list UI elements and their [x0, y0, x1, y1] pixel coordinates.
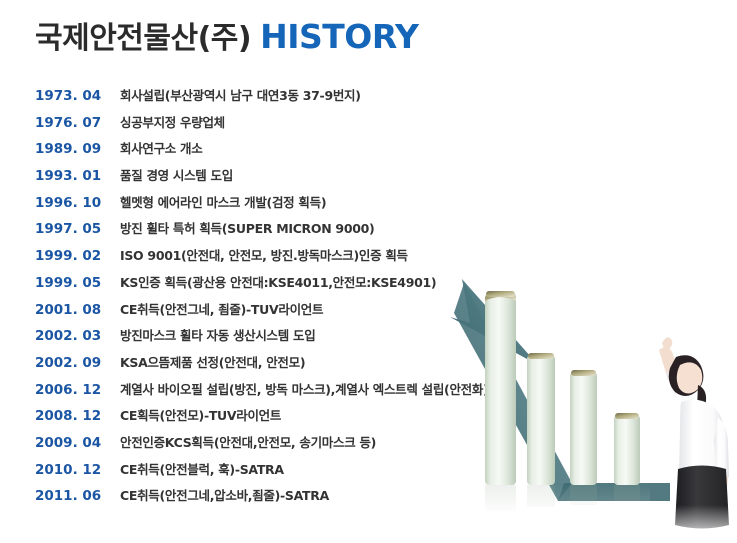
history-date: 2006. 12 — [35, 380, 115, 400]
history-date: 2001. 08 — [35, 300, 115, 320]
history-date: 1999. 05 — [35, 273, 115, 293]
history-text: 헬멧형 에어라인 마스크 개발(검정 획득) — [120, 193, 326, 213]
history-date: 1973. 04 — [35, 86, 115, 106]
history-text: 품질 경영 시스템 도입 — [120, 166, 233, 186]
history-text: CE취득(안전그네, 죔줄)-TUV라이언트 — [120, 300, 323, 320]
history-row: 1999. 02 ISO 9001(안전대, 안전모, 방진.방독마스크)인증 … — [0, 246, 737, 273]
history-row: 1989. 09 회사연구소 개소 — [0, 139, 737, 166]
history-date: 2010. 12 — [35, 460, 115, 480]
history-text: 안전인증KCS획득(안전대,안전모, 송기마스크 등) — [120, 433, 376, 453]
history-date: 2011. 06 — [35, 486, 115, 506]
history-row: 2010. 12 CE취득(안전블럭, 훅)-SATRA — [0, 460, 737, 487]
history-date: 1999. 02 — [35, 246, 115, 266]
history-date: 1996. 10 — [35, 193, 115, 213]
history-row: 2001. 08 CE취득(안전그네, 죔줄)-TUV라이언트 — [0, 300, 737, 327]
history-date: 2009. 04 — [35, 433, 115, 453]
history-row: 2002. 09 KSA으뜸제품 선정(안전대, 안전모) — [0, 353, 737, 380]
history-date: 1976. 07 — [35, 113, 115, 133]
history-row: 2011. 06 CE취득(안전그네,압소바,죔줄)-SATRA — [0, 486, 737, 513]
history-text: CE획득(안전모)-TUV라이언트 — [120, 406, 281, 426]
history-row: 1997. 05 방진 휠타 특허 획득(SUPER MICRON 9000) — [0, 219, 737, 246]
history-row: 1999. 05 KS인증 획득(광산용 안전대:KSE4011,안전모:KSE… — [0, 273, 737, 300]
history-row: 2009. 04 안전인증KCS획득(안전대,안전모, 송기마스크 등) — [0, 433, 737, 460]
history-row: 2002. 03 방진마스크 휠타 자동 생산시스템 도입 — [0, 326, 737, 353]
page-title-korean: 국제안전물산(주) — [35, 21, 251, 56]
history-list: 1973. 04 회사설립(부산광역시 남구 대연3동 37-9번지) 1976… — [0, 86, 737, 513]
history-date: 1993. 01 — [35, 166, 115, 186]
page-title-english: HISTORY — [260, 17, 418, 56]
history-text: 회사설립(부산광역시 남구 대연3동 37-9번지) — [120, 86, 361, 106]
history-row: 2006. 12 계열사 바이오필 설립(방진, 방독 마스크),계열사 엑스트… — [0, 380, 737, 407]
history-text: 방진마스크 휠타 자동 생산시스템 도입 — [120, 326, 315, 346]
history-row: 1996. 10 헬멧형 에어라인 마스크 개발(검정 획득) — [0, 193, 737, 220]
history-row: 2008. 12 CE획득(안전모)-TUV라이언트 — [0, 406, 737, 433]
history-date: 2008. 12 — [35, 406, 115, 426]
history-date: 2002. 09 — [35, 353, 115, 373]
history-text: CE취득(안전블럭, 훅)-SATRA — [120, 460, 284, 480]
history-date: 1989. 09 — [35, 139, 115, 159]
history-row: 1993. 01 품질 경영 시스템 도입 — [0, 166, 737, 193]
history-text: CE취득(안전그네,압소바,죔줄)-SATRA — [120, 486, 329, 506]
history-text: ISO 9001(안전대, 안전모, 방진.방독마스크)인증 획득 — [120, 246, 408, 266]
history-row: 1976. 07 싱공부지정 우량업체 — [0, 113, 737, 140]
history-text: KS인증 획득(광산용 안전대:KSE4011,안전모:KSE4901) — [120, 273, 436, 293]
history-page: 국제안전물산(주)HISTORY 1973. 04 회사설립(부산광역시 남구 … — [0, 0, 737, 543]
history-text: 계열사 바이오필 설립(방진, 방독 마스크),계열사 엑스트렉 설립(안전화) — [120, 380, 488, 400]
history-date: 1997. 05 — [35, 219, 115, 239]
history-text: 싱공부지정 우량업체 — [120, 113, 225, 133]
history-text: KSA으뜸제품 선정(안전대, 안전모) — [120, 353, 305, 373]
history-text: 방진 휠타 특허 획득(SUPER MICRON 9000) — [120, 219, 374, 239]
history-text: 회사연구소 개소 — [120, 139, 202, 159]
history-row: 1973. 04 회사설립(부산광역시 남구 대연3동 37-9번지) — [0, 86, 737, 113]
page-title: 국제안전물산(주)HISTORY — [35, 20, 418, 54]
history-date: 2002. 03 — [35, 326, 115, 346]
